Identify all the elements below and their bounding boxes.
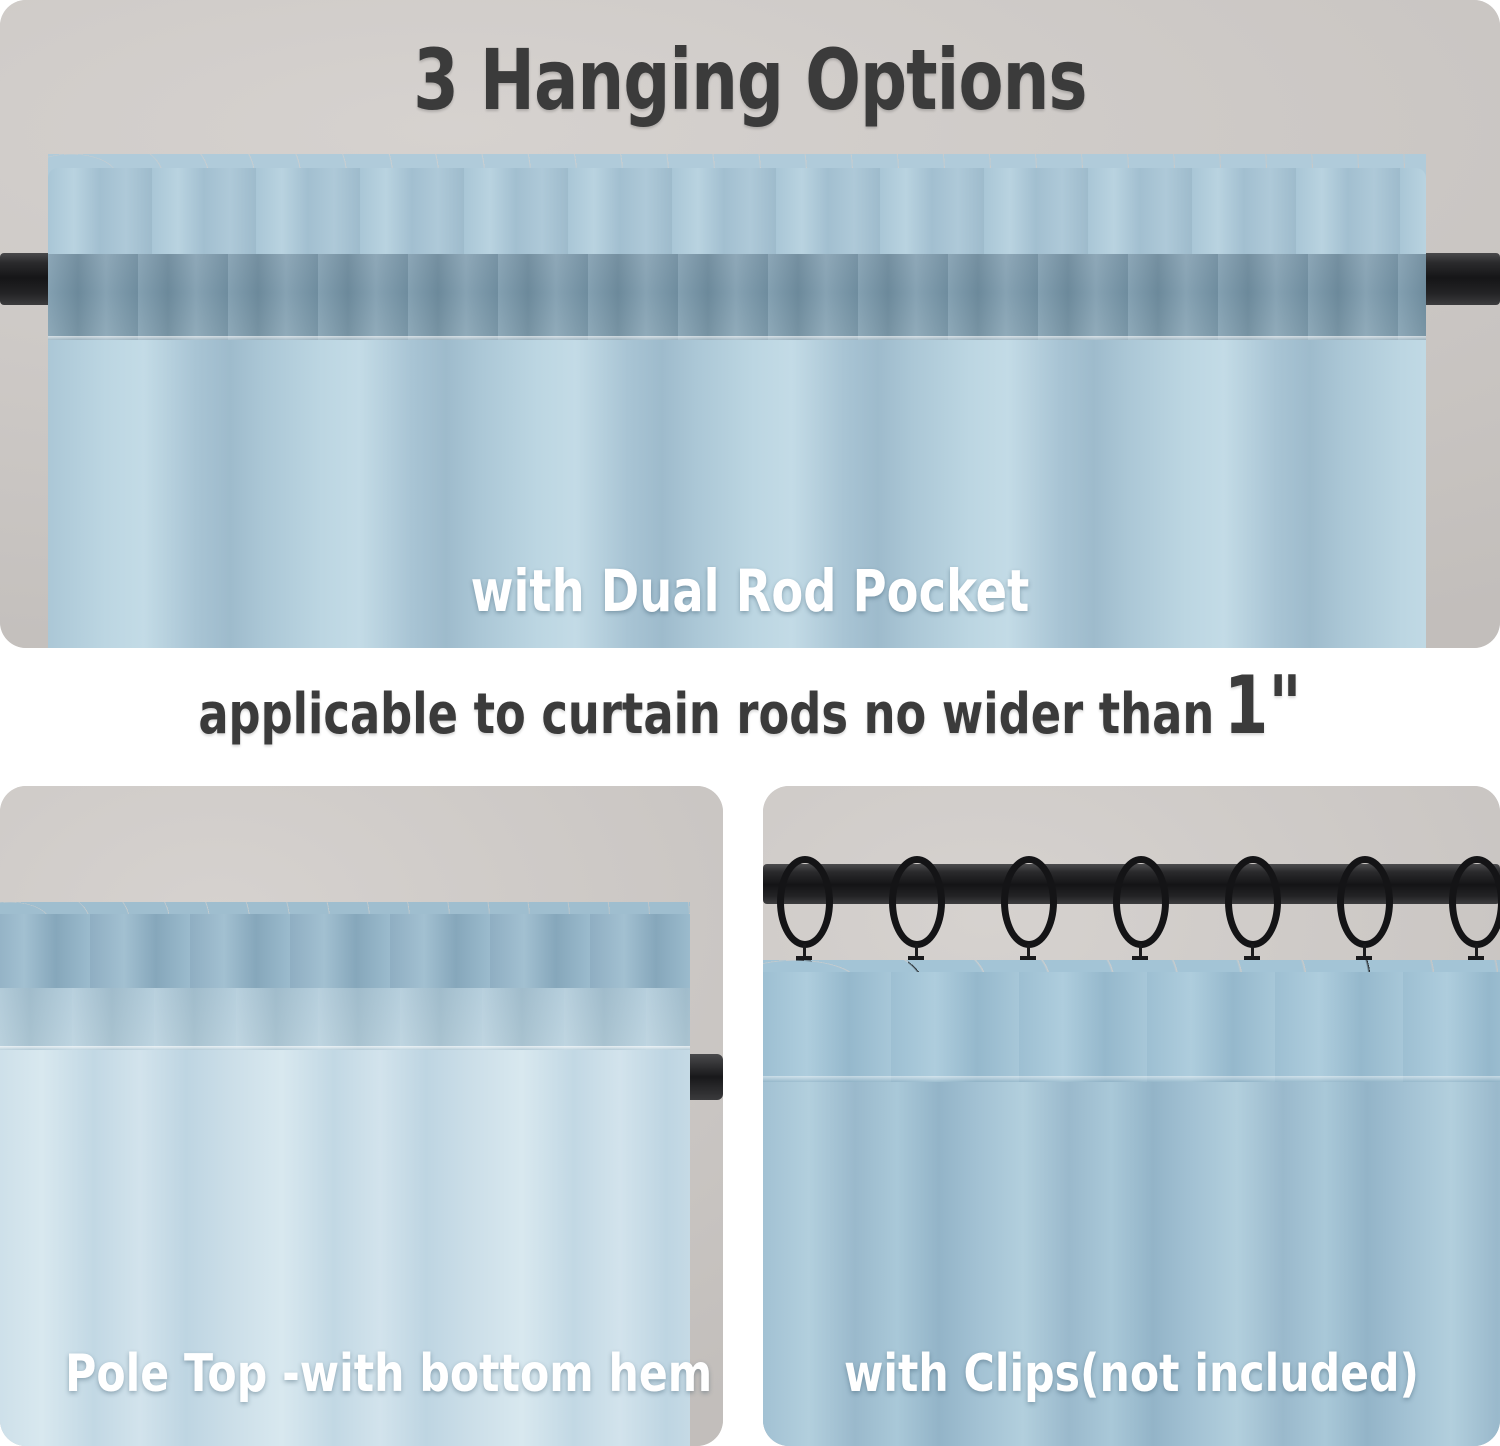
clip-neck-icon	[1363, 944, 1366, 958]
subtitle-emphasis: 1"	[1224, 659, 1302, 752]
top-panel-caption: with Dual Rod Pocket	[150, 562, 1350, 620]
clip-neck-icon	[803, 944, 806, 958]
clip-neck-icon	[1139, 944, 1142, 958]
curtain-top-band	[763, 972, 1500, 1084]
curtain-ring-icon	[889, 856, 945, 948]
curtain-ring-icon	[1337, 856, 1393, 948]
rod-pocket-band	[48, 254, 1426, 340]
curtain-ring-icon	[1001, 856, 1057, 948]
clip-neck-icon	[1251, 944, 1254, 958]
subtitle: applicable to curtain rods no wider than…	[150, 666, 1350, 746]
curtain-header-ruffle	[0, 914, 690, 992]
panel-clips: with Clips(not included)	[763, 786, 1500, 1446]
bottom-left-caption: Pole Top -with bottom hem	[65, 1348, 658, 1400]
bottom-right-caption: with Clips(not included)	[829, 1348, 1433, 1400]
page-title: 3 Hanging Options	[165, 38, 1335, 122]
curtain-ring-icon	[777, 856, 833, 948]
infographic-canvas: 3 Hanging Options with Dual Rod Pocket a…	[0, 0, 1500, 1446]
clip-neck-icon	[1475, 944, 1478, 958]
clip-neck-icon	[1027, 944, 1030, 958]
curtain-ring-icon	[1225, 856, 1281, 948]
curtain-ring-icon	[1449, 856, 1500, 948]
rod-pocket-band	[0, 988, 690, 1050]
panel-pole-top: Pole Top -with bottom hem	[0, 786, 723, 1446]
subtitle-text: applicable to curtain rods no wider than	[198, 682, 1214, 747]
clip-neck-icon	[915, 944, 918, 958]
curtain-ring-icon	[1113, 856, 1169, 948]
